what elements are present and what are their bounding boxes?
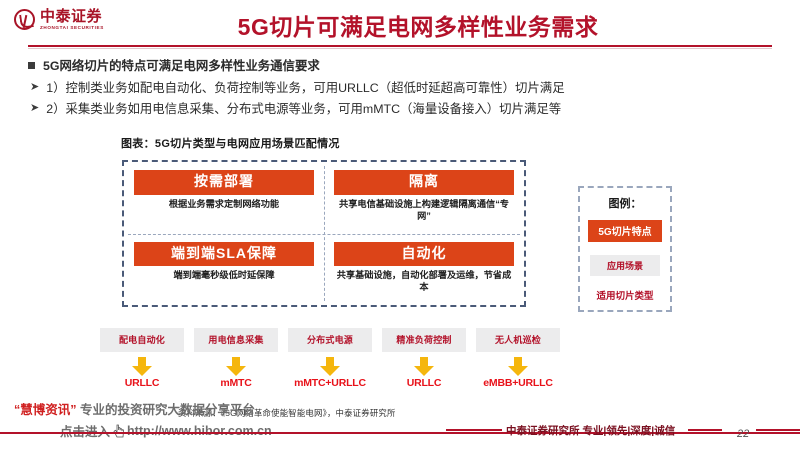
slice-type-label: eMBB+URLLC <box>483 377 552 389</box>
zhongtai-logo-icon <box>14 9 35 30</box>
bullet-item: ➤ 1）控制类业务如配电自动化、负荷控制等业务，可用URLLC（超低时延超高可靠… <box>28 79 780 98</box>
down-arrow-icon <box>413 357 435 376</box>
scenario-label: 分布式电源 <box>288 328 372 352</box>
scenario-column: 精准负荷控制 URLLC <box>382 328 466 389</box>
page-number: 22 <box>737 428 749 440</box>
brand-logo-text: 中泰证券 ZHONGTAI SECURITIES <box>40 9 104 31</box>
hand-cursor-icon <box>112 424 125 438</box>
bullet-item: 5G网络切片的特点可满足电网多样性业务通信要求 <box>28 57 780 76</box>
legend-item-slice: 适用切片类型 <box>580 288 670 302</box>
header-divider <box>28 45 772 47</box>
slice-type-label: URLLC <box>407 377 442 389</box>
scenario-row: 配电自动化 URLLC 用电信息采集 mMTC 分布式电源 mMTC+URLLC… <box>100 328 560 389</box>
scenario-column: 用电信息采集 mMTC <box>194 328 278 389</box>
feature-desc: 端到端毫秒级低时延保障 <box>134 269 314 281</box>
scenario-column: 分布式电源 mMTC+URLLC <box>288 328 372 389</box>
feature-title: 按需部署 <box>134 170 314 195</box>
square-bullet-icon <box>28 62 35 69</box>
legend-item-scenario: 应用场景 <box>590 255 660 276</box>
scenario-label: 无人机巡检 <box>476 328 560 352</box>
legend-box: 图例： 5G切片特点 应用场景 适用切片类型 <box>578 186 672 312</box>
feature-quadrant-on-demand: 按需部署 根据业务需求定制网络功能 <box>124 162 324 234</box>
feature-matrix: 按需部署 根据业务需求定制网络功能 隔离 共享电信基础设施上构建逻辑隔离通信“专… <box>122 160 526 307</box>
page-title: 5G切片可满足电网多样性业务需求 <box>188 8 648 42</box>
arrow-bullet-icon: ➤ <box>30 100 39 118</box>
feature-title: 隔离 <box>334 170 514 195</box>
footer-divider <box>0 432 800 434</box>
down-arrow-icon <box>225 357 247 376</box>
legend-title: 图例： <box>580 195 670 211</box>
scenario-label: 精准负荷控制 <box>382 328 466 352</box>
slice-type-label: mMTC <box>220 377 251 389</box>
brand-logo: 中泰证券 ZHONGTAI SECURITIES <box>14 9 104 31</box>
down-arrow-icon <box>131 357 153 376</box>
watermark-url[interactable]: http://www.hibor.com.cn <box>127 424 272 438</box>
footer-text: 中泰证券研究所 专业|领先|深度|诚信 <box>506 423 675 438</box>
down-arrow-icon <box>507 357 529 376</box>
feature-title: 自动化 <box>334 242 514 267</box>
legend-item-feature: 5G切片特点 <box>588 220 662 242</box>
watermark-link[interactable]: 点击进入 http://www.hibor.com.cn <box>60 421 272 440</box>
scenario-label: 用电信息采集 <box>194 328 278 352</box>
scenario-column: 配电自动化 URLLC <box>100 328 184 389</box>
figure-title: 图表：5G切片类型与电网应用场景匹配情况 <box>121 135 340 151</box>
slide-header: 中泰证券 ZHONGTAI SECURITIES 5G切片可满足电网多样性业务需… <box>0 0 800 48</box>
watermark-tagline: “慧博资讯” 专业的投资研究大数据分享平台 <box>14 399 255 418</box>
footer-rule-left <box>446 429 502 431</box>
slide: 中泰证券 ZHONGTAI SECURITIES 5G切片可满足电网多样性业务需… <box>0 0 800 450</box>
watermark-click-text: 点击进入 <box>60 421 110 440</box>
watermark-tagline-text: 专业的投资研究大数据分享平台 <box>80 403 255 417</box>
bullet-list: 5G网络切片的特点可满足电网多样性业务通信要求 ➤ 1）控制类业务如配电自动化、… <box>28 57 780 122</box>
feature-title: 端到端SLA保障 <box>134 242 314 267</box>
bullet-text: 2）采集类业务如用电信息采集、分布式电源等业务，可用mMTC（海量设备接入）切片… <box>46 100 561 119</box>
footer-rule-right <box>688 429 722 431</box>
watermark-brand-name: 慧博资讯 <box>20 403 70 417</box>
slice-type-label: URLLC <box>125 377 160 389</box>
feature-quadrant-sla: 端到端SLA保障 端到端毫秒级低时延保障 <box>124 234 324 306</box>
scenario-label: 配电自动化 <box>100 328 184 352</box>
brand-name-cn: 中泰证券 <box>40 9 104 24</box>
feature-desc: 共享基础设施，自动化部署及运维，节省成本 <box>334 269 514 294</box>
footer-rule-far-right <box>756 429 800 431</box>
scenario-column: 无人机巡检 eMBB+URLLC <box>476 328 560 389</box>
feature-desc: 共享电信基础设施上构建逻辑隔离通信“专网” <box>334 198 514 223</box>
slice-type-label: mMTC+URLLC <box>294 377 366 389</box>
bullet-item: ➤ 2）采集类业务如用电信息采集、分布式电源等业务，可用mMTC（海量设备接入）… <box>28 100 780 119</box>
down-arrow-icon <box>319 357 341 376</box>
bullet-text: 5G网络切片的特点可满足电网多样性业务通信要求 <box>43 57 320 76</box>
feature-quadrant-isolation: 隔离 共享电信基础设施上构建逻辑隔离通信“专网” <box>324 162 524 234</box>
arrow-bullet-icon: ➤ <box>30 79 39 97</box>
feature-desc: 根据业务需求定制网络功能 <box>134 198 314 210</box>
brand-name-en: ZHONGTAI SECURITIES <box>40 26 104 31</box>
feature-quadrant-automation: 自动化 共享基础设施，自动化部署及运维，节省成本 <box>324 234 524 306</box>
watermark-quote-close: ” <box>70 403 76 417</box>
bullet-text: 1）控制类业务如配电自动化、负荷控制等业务，可用URLLC（超低时延超高可靠性）… <box>46 79 564 98</box>
header-divider-light <box>28 48 772 49</box>
